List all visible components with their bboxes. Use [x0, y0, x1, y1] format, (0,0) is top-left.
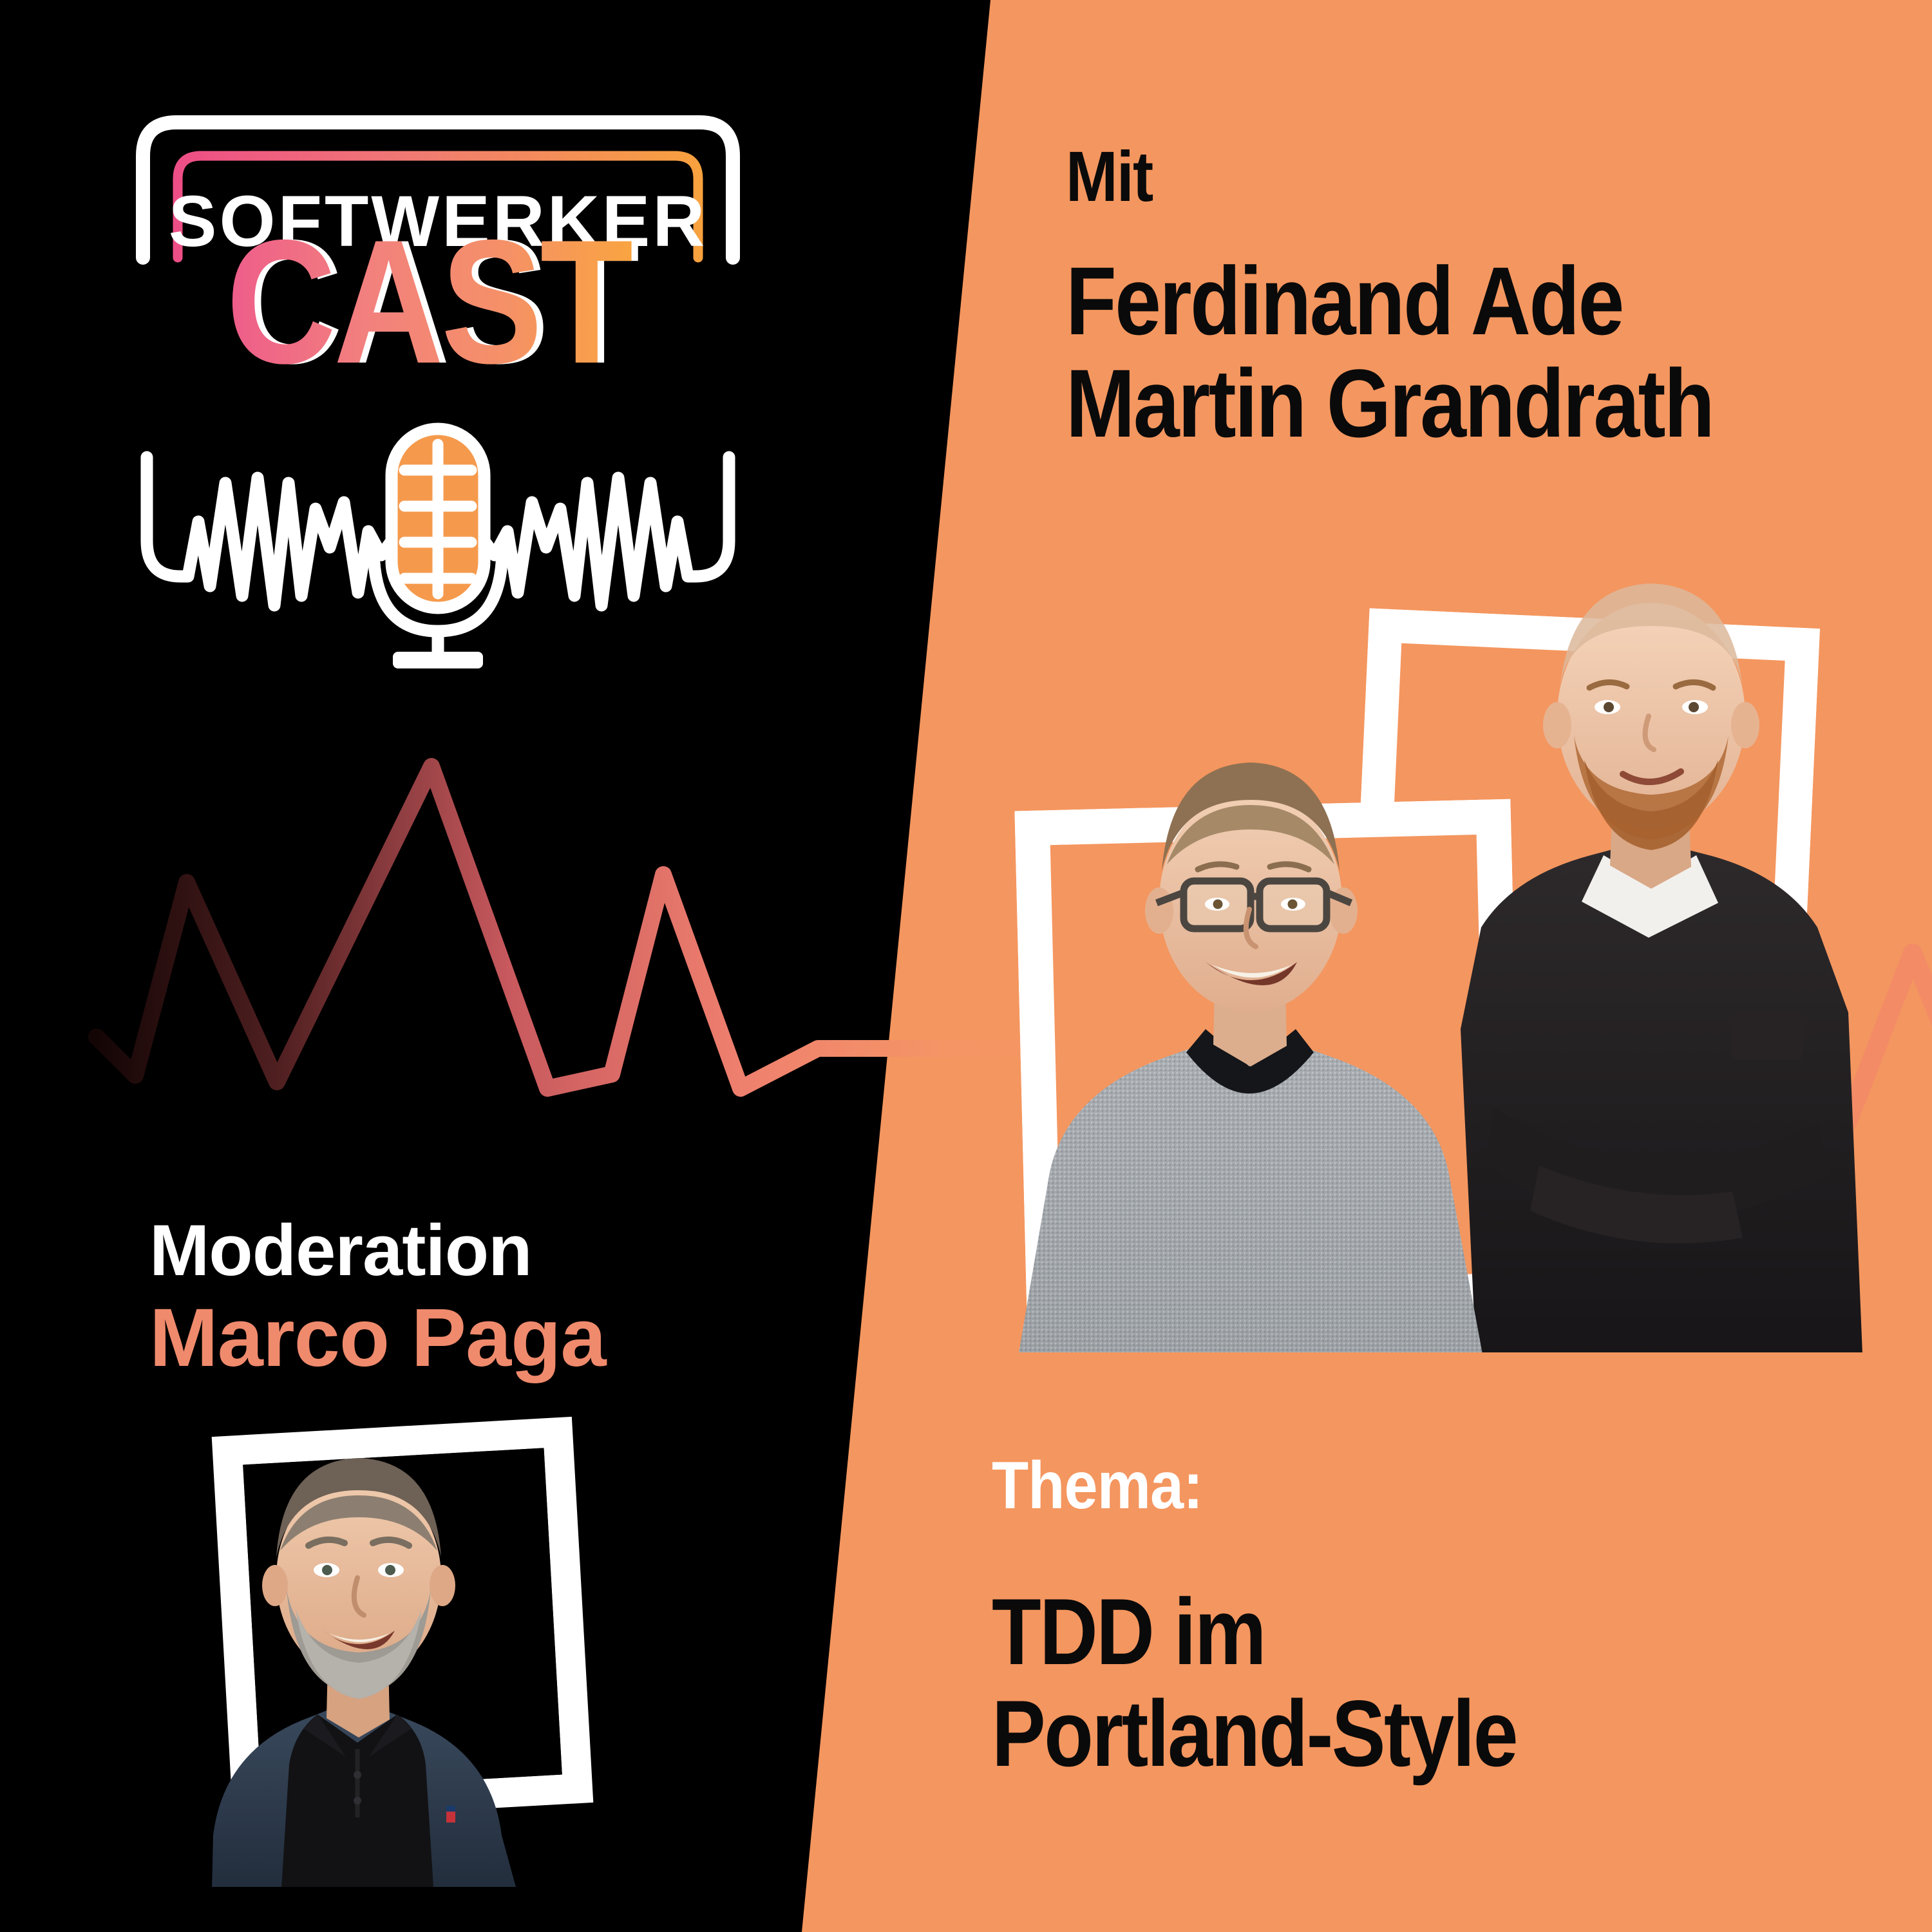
host-frame-matte — [243, 1448, 562, 1791]
guest-name-1: Ferdinand Ade — [1066, 250, 1786, 352]
host-name-label: Marco Paga — [149, 1296, 729, 1381]
microphone-body-icon — [374, 429, 502, 668]
topic-block: Thema: TDD im Portland-Style — [992, 1452, 1893, 1784]
guest-frame-front-matte — [1050, 835, 1487, 1284]
guest-prefix-label: Mit — [1066, 142, 1803, 213]
host-photo-frame — [212, 1417, 594, 1823]
svg-text:CAST: CAST — [226, 204, 632, 401]
podcast-cover-artwork: SOFTWERKER CAST CAST — [0, 0, 1932, 1932]
topic-label: Thema: — [992, 1452, 1803, 1519]
host-credits-block: Moderation Marco Paga — [149, 1214, 729, 1381]
guest-name-2: Martin Grandrath — [1066, 352, 1786, 455]
host-role-label: Moderation — [149, 1214, 729, 1287]
guest-credits-block: Mit Ferdinand Ade Martin Grandrath — [1066, 142, 1903, 455]
topic-title-line-2: Portland-Style — [992, 1683, 1767, 1785]
guest-photo-frame-front — [1014, 799, 1522, 1320]
topic-title-line-1: TDD im — [992, 1581, 1767, 1683]
logo-word-cast: CAST CAST — [226, 204, 638, 401]
softwerker-cast-logo: SOFTWERKER CAST CAST — [129, 97, 747, 663]
